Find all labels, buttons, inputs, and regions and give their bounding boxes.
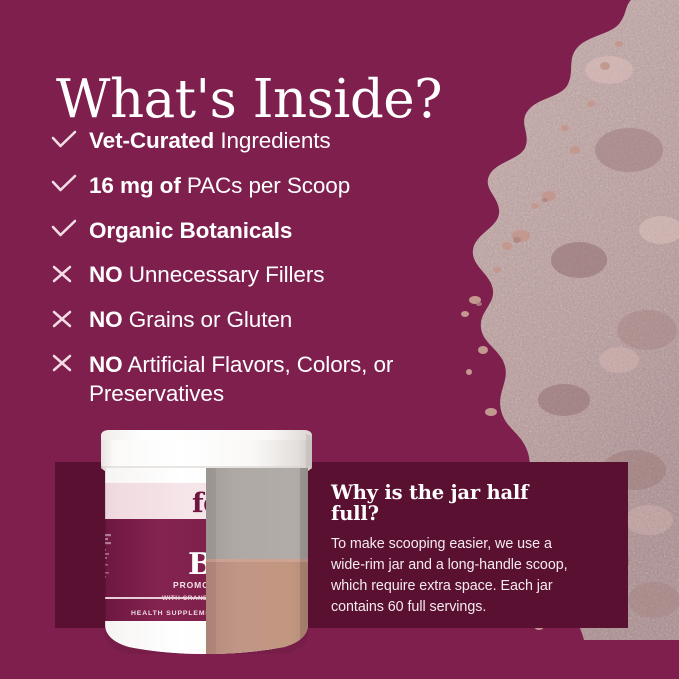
cross-icon xyxy=(48,350,89,377)
page-title: What's Inside? xyxy=(56,72,442,127)
list-item: NO Unnecessary Fillers xyxy=(48,260,468,290)
list-item-label: 16 mg of PACs per Scoop xyxy=(89,171,350,201)
card-title: Why is the jar half full? xyxy=(331,482,581,525)
card-body: To make scooping easier, we use a wide-r… xyxy=(331,534,581,618)
list-item: Vet-Curated Ingredients xyxy=(48,126,468,156)
list-item-bold: NO xyxy=(89,352,123,377)
list-item-label: NO Grains or Gluten xyxy=(89,305,292,335)
list-item-label: NO Artificial Flavors, Colors, or Preser… xyxy=(89,350,468,409)
list-item-label: Vet-Curated Ingredients xyxy=(89,126,331,156)
product-jar-icon: fera POWDER Black PROMOTES BLADDER HEALT… xyxy=(88,428,325,654)
list-item-bold: 16 mg of xyxy=(89,173,181,198)
cross-icon xyxy=(48,305,89,332)
check-icon xyxy=(48,171,89,198)
list-item: 16 mg of PACs per Scoop xyxy=(48,171,468,201)
jar-info-card-text: Why is the jar half full? To make scoopi… xyxy=(331,482,581,618)
list-item-rest: PACs per Scoop xyxy=(181,173,350,198)
list-item-bold: Vet-Curated xyxy=(89,128,214,153)
list-item-rest: Ingredients xyxy=(214,128,330,153)
page-root: What's Inside? Vet-Curated Ingredients 1… xyxy=(0,0,679,679)
list-item-label: NO Unnecessary Fillers xyxy=(89,260,324,290)
check-icon xyxy=(48,216,89,243)
cross-icon xyxy=(48,260,89,287)
list-item-rest: Grains or Gluten xyxy=(123,307,293,332)
list-item-bold: NO xyxy=(89,262,123,287)
list-item: NO Grains or Gluten xyxy=(48,305,468,335)
list-item: NO Artificial Flavors, Colors, or Preser… xyxy=(48,350,468,409)
product-jar-image: fera POWDER Black PROMOTES BLADDER HEALT… xyxy=(88,428,325,654)
list-item-label: Organic Botanicals xyxy=(89,216,292,246)
feature-list: Vet-Curated Ingredients 16 mg of PACs pe… xyxy=(48,126,468,424)
check-icon xyxy=(48,126,89,153)
list-item-rest: Unnecessary Fillers xyxy=(123,262,325,287)
list-item-bold: Organic Botanicals xyxy=(89,218,292,243)
list-item-bold: NO xyxy=(89,307,123,332)
list-item: Organic Botanicals xyxy=(48,216,468,246)
list-item-rest: Artificial Flavors, Colors, or Preservat… xyxy=(89,352,393,406)
